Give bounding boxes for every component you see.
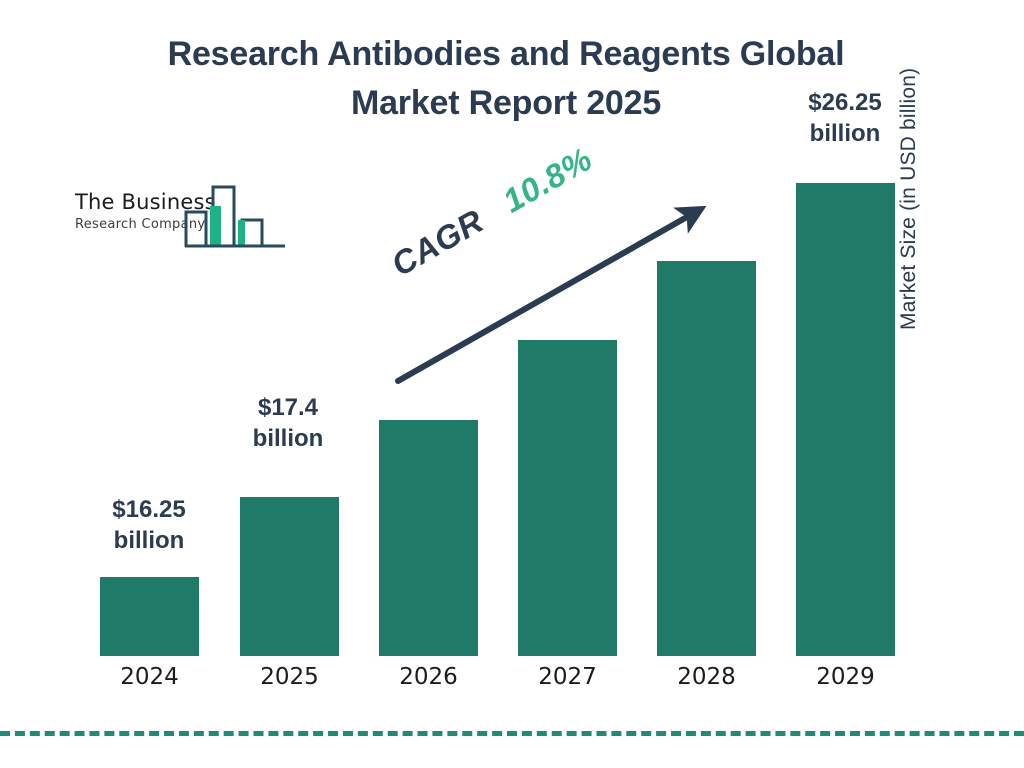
bar-chart-plot: $16.25 billion $17.4 billion $26.25 bill… (0, 0, 1024, 768)
y-axis-title: Market Size (in USD billion) (897, 10, 921, 330)
growth-arrow-icon (0, 0, 1024, 768)
footer-divider (0, 731, 1024, 736)
chart-infographic: Research Antibodies and Reagents Global … (0, 0, 1024, 768)
